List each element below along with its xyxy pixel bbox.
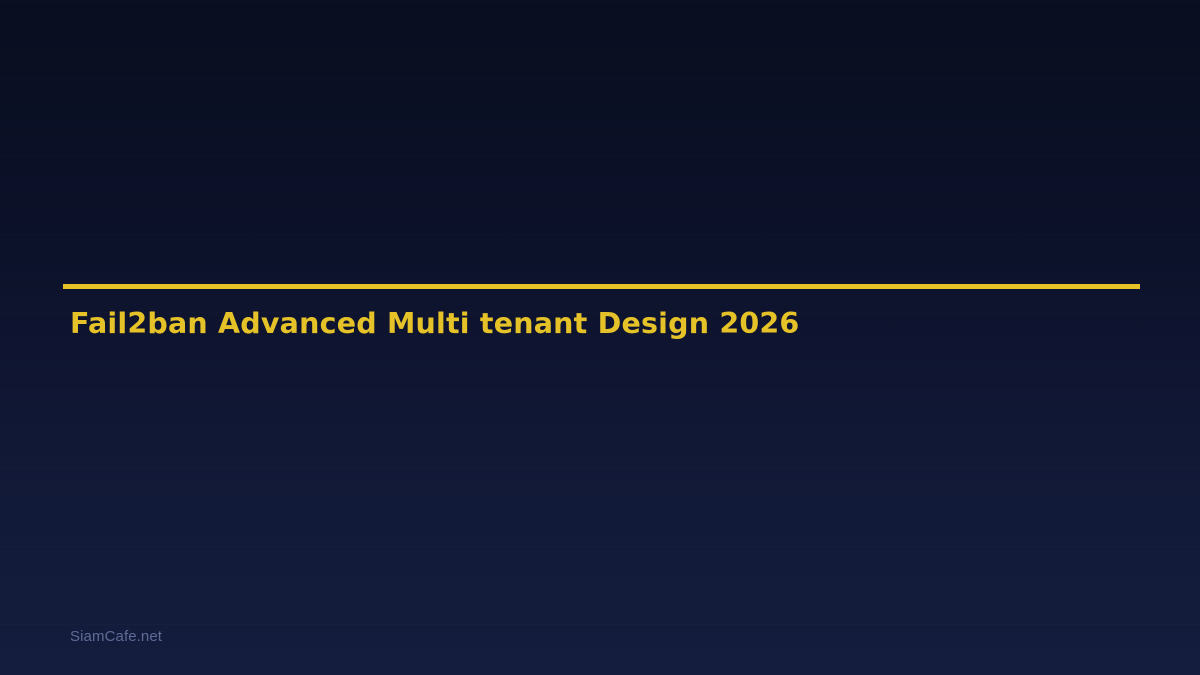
title-slide: Fail2ban Advanced Multi tenant Design 20…: [0, 0, 1200, 675]
footer-watermark: SiamCafe.net: [70, 628, 162, 645]
accent-rule: [63, 284, 1140, 289]
page-title: Fail2ban Advanced Multi tenant Design 20…: [70, 303, 799, 345]
